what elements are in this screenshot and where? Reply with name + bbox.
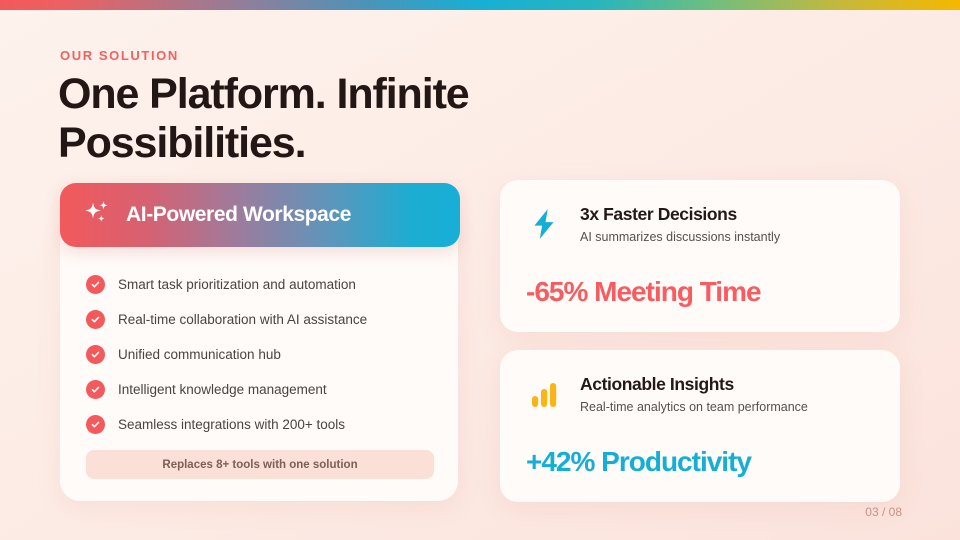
check-circle-icon [86,275,105,294]
ai-workspace-card: Smart task prioritization and automation… [60,221,458,501]
list-item-label: Seamless integrations with 200+ tools [118,417,345,432]
list-item-label: Smart task prioritization and automation [118,277,356,292]
check-circle-icon [86,415,105,434]
check-circle-icon [86,380,105,399]
slide-stage: OUR SOLUTION One Platform. Infinite Poss… [0,10,960,540]
ai-workspace-banner-title: AI-Powered Workspace [126,203,351,227]
check-circle-icon [86,310,105,329]
card-subtitle: Real-time analytics on team performance [580,400,808,414]
bar-chart-icon [524,374,564,414]
card-header: 3x Faster Decisions AI summarizes discus… [524,204,780,244]
list-item: Smart task prioritization and automation [86,267,446,302]
card-title: Actionable Insights [580,374,808,395]
list-item-label: Real-time collaboration with AI assistan… [118,312,367,327]
list-item: Unified communication hub [86,337,446,372]
actionable-insights-card: Actionable Insights Real-time analytics … [500,350,900,502]
list-item-label: Intelligent knowledge management [118,382,327,397]
lightning-bolt-icon [524,204,564,244]
card-subtitle: AI summarizes discussions instantly [580,230,780,244]
feature-list: Smart task prioritization and automation… [86,267,446,442]
list-item: Seamless integrations with 200+ tools [86,407,446,442]
card-title: 3x Faster Decisions [580,204,780,225]
check-circle-icon [86,345,105,364]
gradient-accent-bar [0,0,960,10]
card-header: Actionable Insights Real-time analytics … [524,374,808,414]
list-item: Intelligent knowledge management [86,372,446,407]
sparkles-icon [82,198,112,233]
status-badge: +42% Productivity [526,446,751,478]
ai-workspace-banner[interactable]: AI-Powered Workspace [60,183,460,247]
page-number: 03 / 08 [865,505,902,519]
status-badge: -65% Meeting Time [526,276,761,308]
page-title: One Platform. Infinite Possibilities. [58,70,618,167]
list-item-label: Unified communication hub [118,347,281,362]
list-item: Real-time collaboration with AI assistan… [86,302,446,337]
section-eyebrow: OUR SOLUTION [60,48,179,63]
replaces-tools-badge: Replaces 8+ tools with one solution [86,450,434,479]
faster-decisions-card: 3x Faster Decisions AI summarizes discus… [500,180,900,332]
